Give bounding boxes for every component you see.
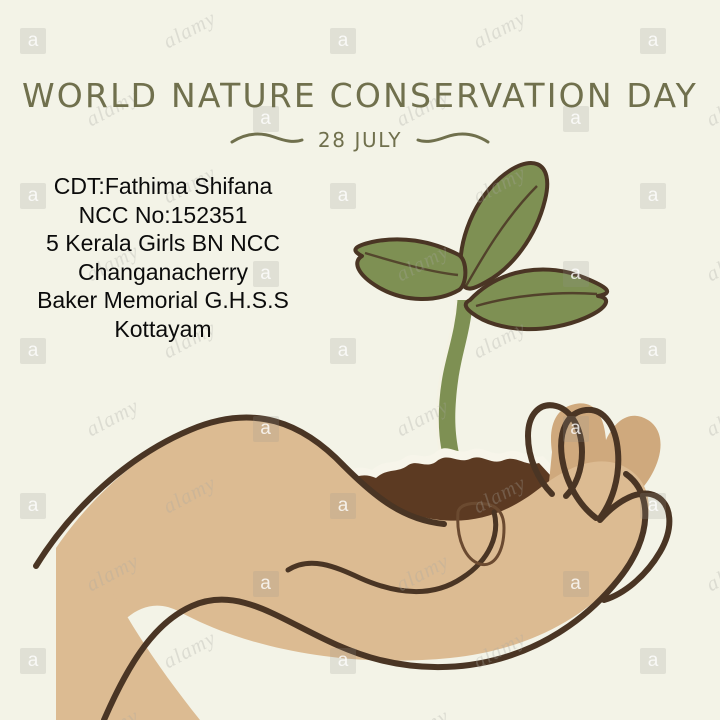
hand-holding-sapling-illustration xyxy=(0,0,720,720)
info-line-school: Baker Memorial G.H.S.S xyxy=(8,286,318,315)
info-line-district: Kottayam xyxy=(8,315,318,344)
info-line-name: CDT:Fathima Shifana xyxy=(8,172,318,201)
sapling-stem xyxy=(436,300,473,472)
info-line-ncc-no: NCC No:152351 xyxy=(8,201,318,230)
poster-canvas: aalamyaalamyaalamyalamyaalamyaalamyaalam… xyxy=(0,0,720,720)
info-line-unit: 5 Kerala Girls BN NCC xyxy=(8,229,318,258)
info-line-place: Changanacherry xyxy=(8,258,318,287)
cadet-info-overlay: CDT:Fathima Shifana NCC No:152351 5 Kera… xyxy=(8,172,318,343)
sapling-leaf-left xyxy=(355,239,465,299)
